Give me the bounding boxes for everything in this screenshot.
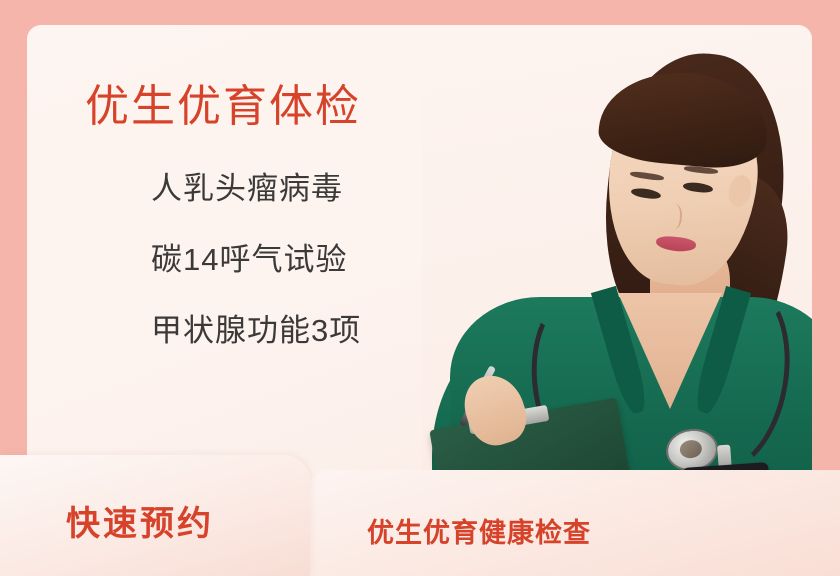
bottom-title: 优生优育健康检查: [367, 511, 591, 550]
promo-banner: 优生优育体检 人乳头瘤病毒 碳14呼气试验 甲状腺功能3项 快速预约 优生优育健…: [0, 0, 840, 576]
copy-block: 优生优育体检 人乳头瘤病毒 碳14呼气试验 甲状腺功能3项: [85, 85, 465, 346]
medical-staff-photo: [422, 25, 812, 525]
service-item-2: 碳14呼气试验: [85, 244, 465, 275]
service-item-1: 人乳头瘤病毒: [85, 173, 465, 204]
service-item-3: 甲状腺功能3项: [85, 315, 465, 346]
book-now-button-label[interactable]: 快速预约: [66, 496, 214, 545]
page-title: 优生优育体检: [85, 85, 465, 129]
